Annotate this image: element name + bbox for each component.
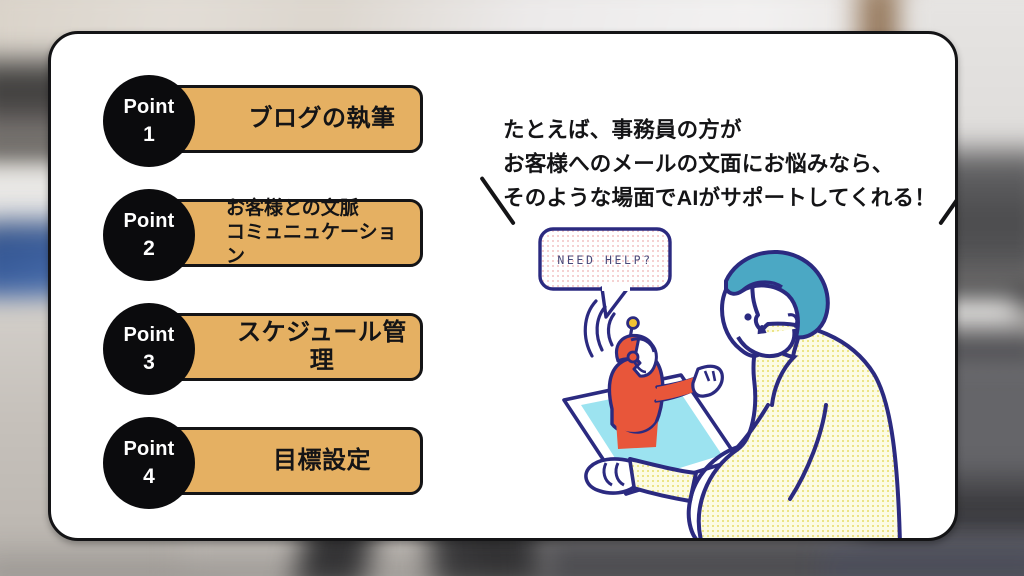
point-badge-number-1: 1 [143, 124, 155, 145]
point-pill-4[interactable]: 目標設定 [161, 427, 423, 495]
eye-icon [744, 313, 751, 320]
list-item[interactable]: ブログの執筆 Point 1 [103, 75, 433, 167]
robot-hand-icon [693, 366, 722, 396]
point-label-4: 目標設定 [273, 447, 371, 475]
point-pill-3[interactable]: スケジュール管理 [161, 313, 423, 381]
point-pill-1[interactable]: ブログの執筆 [161, 85, 423, 153]
point-badge-3[interactable]: Point 3 [103, 303, 195, 395]
list-item[interactable]: お客様との文脈 コミュニュケーション Point 2 [103, 189, 433, 281]
point-list: ブログの執筆 Point 1 お客様との文脈 コミュニュケーション Point … [103, 75, 433, 531]
point-badge-2[interactable]: Point 2 [103, 189, 195, 281]
point-label-2: お客様との文脈 コミュニュケーション [226, 197, 412, 268]
background-bottom-shadow [0, 545, 1024, 576]
content-card: ブログの執筆 Point 1 お客様との文脈 コミュニュケーション Point … [48, 31, 958, 541]
point-badge-word-1: Point [124, 97, 175, 117]
list-item[interactable]: スケジュール管理 Point 3 [103, 303, 433, 395]
point-label-1: ブログの執筆 [249, 105, 396, 133]
point-pill-2[interactable]: お客様との文脈 コミュニュケーション [161, 199, 423, 267]
illustration: NEED HELP? [506, 209, 958, 541]
point-badge-1[interactable]: Point 1 [103, 75, 195, 167]
point-badge-word-4: Point [124, 439, 175, 459]
speech-bubble-label: NEED HELP? [557, 253, 652, 267]
point-badge-number-3: 3 [143, 352, 155, 373]
point-label-3: スケジュール管理 [232, 319, 412, 376]
point-badge-number-4: 4 [143, 466, 155, 487]
headline-text: たとえば、事務員の方が お客様へのメールの文面にお悩みなら、 そのような場面でA… [503, 114, 958, 216]
point-badge-word-2: Point [124, 211, 175, 231]
speech-bubble-icon: NEED HELP? [540, 229, 670, 317]
list-item[interactable]: 目標設定 Point 4 [103, 417, 433, 509]
point-badge-word-3: Point [124, 325, 175, 345]
point-badge-number-2: 2 [143, 238, 155, 259]
point-badge-4[interactable]: Point 4 [103, 417, 195, 509]
hand-icon [586, 459, 634, 493]
